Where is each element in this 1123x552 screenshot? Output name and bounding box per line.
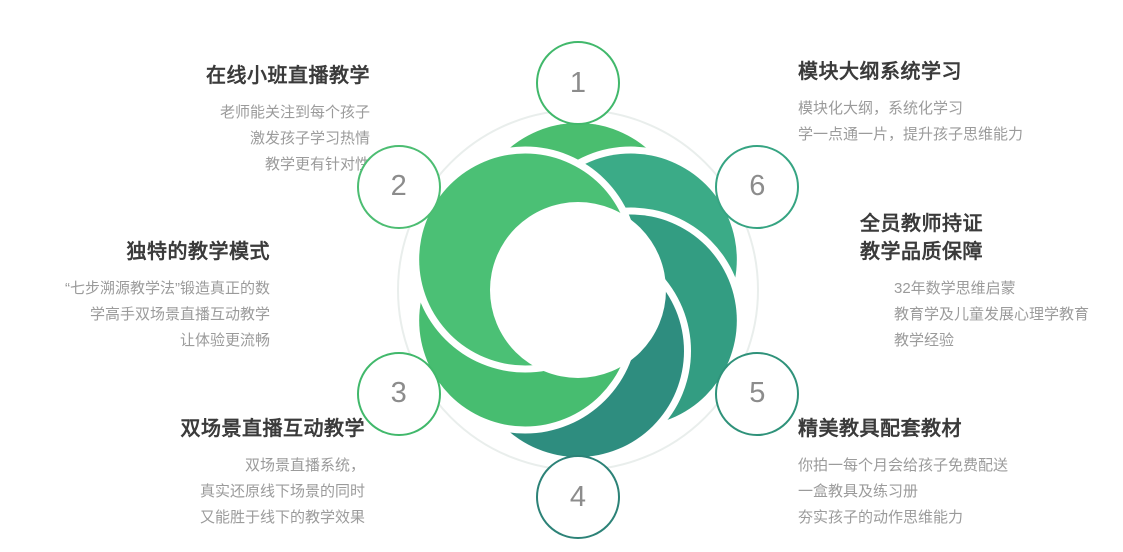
infographic-canvas: 在线小班直播教学 老师能关注到每个孩子 激发孩子学习热情 教学更有针对性 独特的… <box>0 0 1123 552</box>
step-node-label: 1 <box>570 69 586 98</box>
step-node-6[interactable]: 6 <box>715 145 799 229</box>
feature-title-3: 双场景直播互动教学 <box>0 415 365 443</box>
step-node-label: 6 <box>749 172 765 201</box>
step-node-5[interactable]: 5 <box>715 352 799 436</box>
step-node-label: 5 <box>749 379 765 408</box>
step-node-1[interactable]: 1 <box>536 41 620 125</box>
feature-title-4: 精美教具配套教材 <box>798 415 1118 443</box>
feature-desc-3: 双场景直播系统， 真实还原线下场景的同时 又能胜于线下的教学效果 <box>0 453 365 531</box>
feature-title-5: 全员教师持证 教学品质保障 <box>860 210 1123 266</box>
feature-block-1: 在线小班直播教学 老师能关注到每个孩子 激发孩子学习热情 教学更有针对性 <box>0 62 370 178</box>
step-node-label: 2 <box>391 172 407 201</box>
step-node-4[interactable]: 4 <box>536 455 620 539</box>
feature-block-2: 独特的教学模式 “七步溯源教学法”锻造真正的数 学高手双场景直播互动教学 让体验… <box>0 238 270 354</box>
step-node-label: 4 <box>570 483 586 512</box>
step-node-label: 3 <box>391 379 407 408</box>
feature-desc-6: 模块化大纲，系统化学习 学一点通一片，提升孩子思维能力 <box>798 96 1118 148</box>
feature-title-1: 在线小班直播教学 <box>0 62 370 90</box>
feature-block-4: 精美教具配套教材 你拍一每个月会给孩子免费配送 一盒教具及练习册 夯实孩子的动作… <box>798 415 1118 531</box>
feature-block-5: 全员教师持证 教学品质保障 32年数学思维启蒙 教育学及儿童发展心理学教育 教学… <box>860 210 1123 354</box>
step-node-2[interactable]: 2 <box>357 145 441 229</box>
feature-desc-4: 你拍一每个月会给孩子免费配送 一盒教具及练习册 夯实孩子的动作思维能力 <box>798 453 1118 531</box>
feature-block-6: 模块大纲系统学习 模块化大纲，系统化学习 学一点通一片，提升孩子思维能力 <box>798 58 1118 148</box>
step-node-3[interactable]: 3 <box>357 352 441 436</box>
feature-title-6: 模块大纲系统学习 <box>798 58 1118 86</box>
feature-block-3: 双场景直播互动教学 双场景直播系统， 真实还原线下场景的同时 又能胜于线下的教学… <box>0 415 365 531</box>
feature-desc-2: “七步溯源教学法”锻造真正的数 学高手双场景直播互动教学 让体验更流畅 <box>0 276 270 354</box>
feature-desc-1: 老师能关注到每个孩子 激发孩子学习热情 教学更有针对性 <box>0 100 370 178</box>
feature-title-2: 独特的教学模式 <box>0 238 270 266</box>
center-hub <box>490 202 666 378</box>
feature-desc-5: 32年数学思维启蒙 教育学及儿童发展心理学教育 教学经验 <box>894 276 1123 354</box>
petal-diagram: 165432 <box>341 53 815 527</box>
